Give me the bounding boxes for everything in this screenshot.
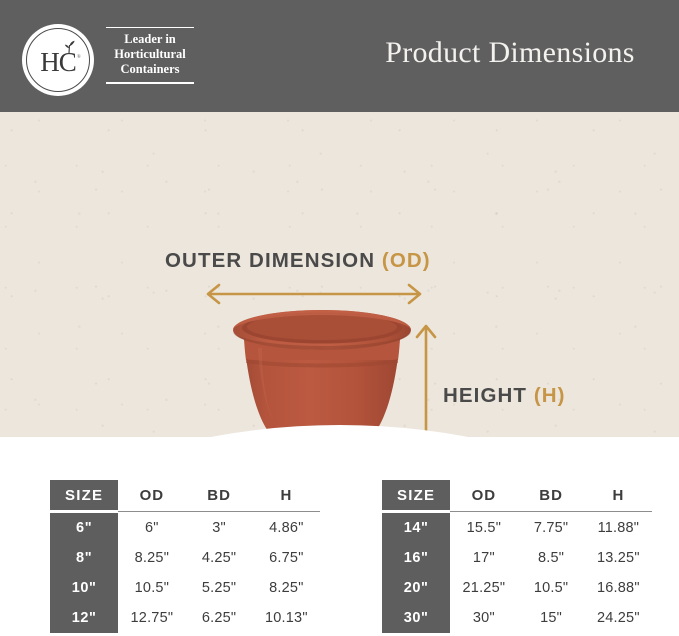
registered-trademark-mark: ® (77, 55, 81, 60)
table-row: 12" 12.75" 6.25" 10.13" (50, 603, 320, 633)
cell-size: 8" (50, 543, 118, 573)
cell-bd: 10.5" (517, 573, 584, 603)
cell-od: 30" (450, 603, 517, 633)
cell-bd: 15" (517, 603, 584, 633)
cell-h: 16.88" (585, 573, 652, 603)
outer-dimension-label-text: OUTER DIMENSION (165, 249, 382, 272)
cell-h: 6.75" (253, 543, 320, 573)
cell-od: 15.5" (450, 512, 517, 544)
cell-bd: 4.25" (185, 543, 252, 573)
cell-h: 10.13" (253, 603, 320, 633)
cell-od: 12.75" (118, 603, 185, 633)
cell-bd: 5.25" (185, 573, 252, 603)
size-chart-table-right: SIZE OD BD H 14" 15.5" 7.75" 11.88" 16" … (382, 480, 652, 633)
cell-h: 8.25" (253, 573, 320, 603)
cell-bd: 8.5" (517, 543, 584, 573)
brand-logo: HC ® Leader in Horticultural Containers (22, 22, 192, 98)
tagline-text: Leader in Horticultural Containers (106, 28, 194, 82)
height-label: HEIGHT (H) (443, 384, 566, 408)
height-arrow-icon (414, 318, 438, 437)
panel-bottom-curve (0, 425, 679, 437)
cell-h: 13.25" (585, 543, 652, 573)
outer-dimension-arrow-icon (200, 282, 428, 306)
column-header-size: SIZE (50, 480, 118, 512)
tagline-rule-bottom (106, 82, 194, 83)
cell-bd: 7.75" (517, 512, 584, 544)
cell-h: 24.25" (585, 603, 652, 633)
size-chart-table-left: SIZE OD BD H 6" 6" 3" 4.86" 8" 8.25" 4.2… (50, 480, 320, 633)
table-row: 10" 10.5" 5.25" 8.25" (50, 573, 320, 603)
cell-size: 14" (382, 512, 450, 544)
cell-size: 30" (382, 603, 450, 633)
cell-bd: 3" (185, 512, 252, 544)
column-header-od: OD (450, 480, 517, 512)
cell-od: 6" (118, 512, 185, 544)
table-header-row: SIZE OD BD H (382, 480, 652, 512)
cell-od: 17" (450, 543, 517, 573)
cell-od: 10.5" (118, 573, 185, 603)
column-header-bd: BD (517, 480, 584, 512)
logo-monogram-text: HC (22, 24, 94, 96)
cell-od: 8.25" (118, 543, 185, 573)
column-header-h: H (253, 480, 320, 512)
outer-dimension-label-code: (OD) (382, 249, 431, 272)
cell-h: 11.88" (585, 512, 652, 544)
cell-bd: 6.25" (185, 603, 252, 633)
terracotta-planter-pot (222, 308, 422, 437)
outer-dimension-label: OUTER DIMENSION (OD) (165, 249, 431, 273)
column-header-od: OD (118, 480, 185, 512)
table-row: 14" 15.5" 7.75" 11.88" (382, 512, 652, 544)
cell-size: 6" (50, 512, 118, 544)
header-bar: HC ® Leader in Horticultural Containers … (0, 0, 679, 112)
cell-size: 12" (50, 603, 118, 633)
table-row: 6" 6" 3" 4.86" (50, 512, 320, 544)
column-header-bd: BD (185, 480, 252, 512)
table-row: 16" 17" 8.5" 13.25" (382, 543, 652, 573)
page-title: Product Dimensions (360, 36, 660, 70)
brand-tagline: Leader in Horticultural Containers (106, 27, 194, 84)
table-row: 8" 8.25" 4.25" 6.75" (50, 543, 320, 573)
cell-h: 4.86" (253, 512, 320, 544)
height-label-code: (H) (534, 384, 566, 407)
column-header-size: SIZE (382, 480, 450, 512)
cell-size: 10" (50, 573, 118, 603)
cell-od: 21.25" (450, 573, 517, 603)
cell-size: 20" (382, 573, 450, 603)
table-row: 30" 30" 15" 24.25" (382, 603, 652, 633)
cell-size: 16" (382, 543, 450, 573)
column-header-h: H (585, 480, 652, 512)
leaf-sprig-icon (59, 40, 79, 54)
table-header-row: SIZE OD BD H (50, 480, 320, 512)
height-label-text: HEIGHT (443, 384, 534, 407)
table-row: 20" 21.25" 10.5" 16.88" (382, 573, 652, 603)
diagram-panel: OUTER DIMENSION (OD) (0, 112, 679, 437)
logo-circle-badge: HC ® (22, 24, 94, 96)
